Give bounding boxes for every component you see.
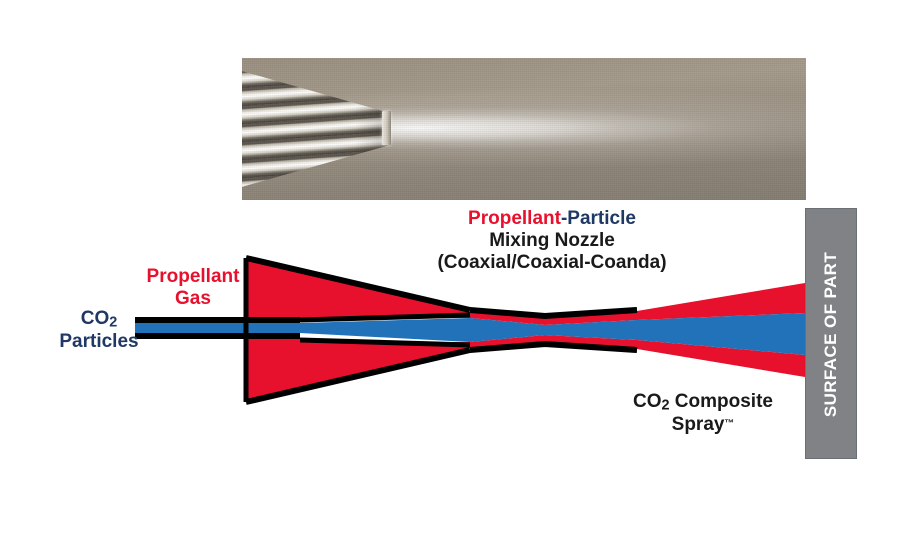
surface-of-part-bar: SURFACE OF PART	[805, 208, 857, 459]
label-propellant-gas-line2: Gas	[175, 288, 211, 309]
label-mixing-nozzle-line2: Mixing Nozzle	[489, 230, 615, 251]
label-spray-composite: Composite	[670, 391, 773, 412]
label-co2-composite-spray: CO2 Composite Spray™	[605, 391, 801, 436]
label-spray-co2: CO	[633, 391, 662, 412]
label-co2-particles-subscript: 2	[109, 314, 117, 330]
label-co2-particles-line2: Particles	[59, 331, 138, 352]
label-particle-word: Particle	[567, 208, 636, 229]
label-spray-subscript: 2	[662, 397, 670, 413]
inlet-wall-upper	[135, 317, 300, 323]
label-mixing-nozzle: Propellant-Particle Mixing Nozzle (Coaxi…	[424, 208, 680, 274]
label-propellant-gas: Propellant Gas	[135, 266, 251, 310]
propellant-cone-lower	[246, 338, 470, 400]
label-coaxial-coanda-line3: (Coaxial/Coaxial-Coanda)	[437, 252, 666, 273]
label-spray-word: Spray	[672, 414, 725, 435]
figure-root: Propellant-Particle Mixing Nozzle (Coaxi…	[0, 0, 900, 550]
inlet-wall-lower	[135, 333, 300, 339]
label-propellant-gas-line1: Propellant	[147, 266, 240, 287]
particle-inlet-stream	[135, 323, 300, 333]
label-co2-particles-co2: CO	[81, 308, 110, 329]
label-propellant-word: Propellant	[468, 208, 561, 229]
trademark-icon: ™	[724, 418, 734, 429]
label-co2-particles: CO2 Particles	[54, 308, 144, 353]
surface-of-part-label: SURFACE OF PART	[806, 209, 856, 460]
